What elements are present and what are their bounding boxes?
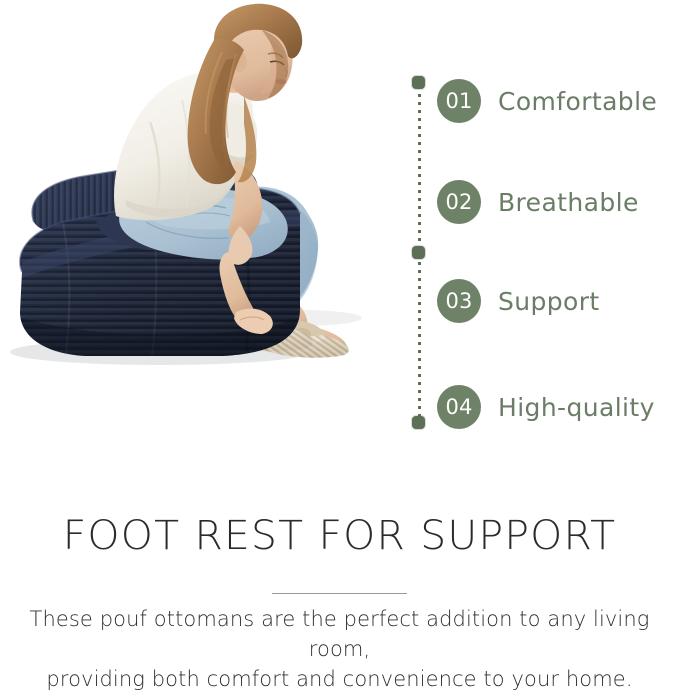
feature-item-1: 01 Comfortable [437,79,657,123]
feature-number-4: 04 [445,395,472,419]
feature-item-2: 02 Breathable [437,180,639,224]
photo-illustration [0,0,400,460]
feature-number-badge-3: 03 [437,279,481,323]
feature-number-badge-1: 01 [437,79,481,123]
divider-rule [272,593,407,594]
feature-number-3: 03 [445,289,472,313]
feature-number-2: 02 [445,190,472,214]
headline: FOOT REST FOR SUPPORT [0,513,679,559]
product-feature-banner: 01 Comfortable 02 Breathable 03 Support … [0,0,679,669]
timeline-marker-middle [412,246,425,259]
feature-label-1: Comfortable [498,87,657,116]
feature-label-3: Support [498,287,600,316]
feature-label-2: Breathable [498,188,639,217]
feature-number-badge-2: 02 [437,180,481,224]
feature-number-1: 01 [445,89,472,113]
feature-number-badge-4: 04 [437,385,481,429]
description-line-1: These pouf ottomans are the perfect addi… [8,604,671,664]
product-lifestyle-photo [0,0,400,460]
feature-label-4: High-quality [498,393,655,422]
timeline-marker-bottom [412,416,425,429]
feature-item-4: 04 High-quality [437,385,655,429]
feature-list: 01 Comfortable 02 Breathable 03 Support … [405,60,679,440]
description-paragraph: These pouf ottomans are the perfect addi… [8,604,671,694]
timeline-marker-top [412,76,425,89]
feature-item-3: 03 Support [437,279,600,323]
